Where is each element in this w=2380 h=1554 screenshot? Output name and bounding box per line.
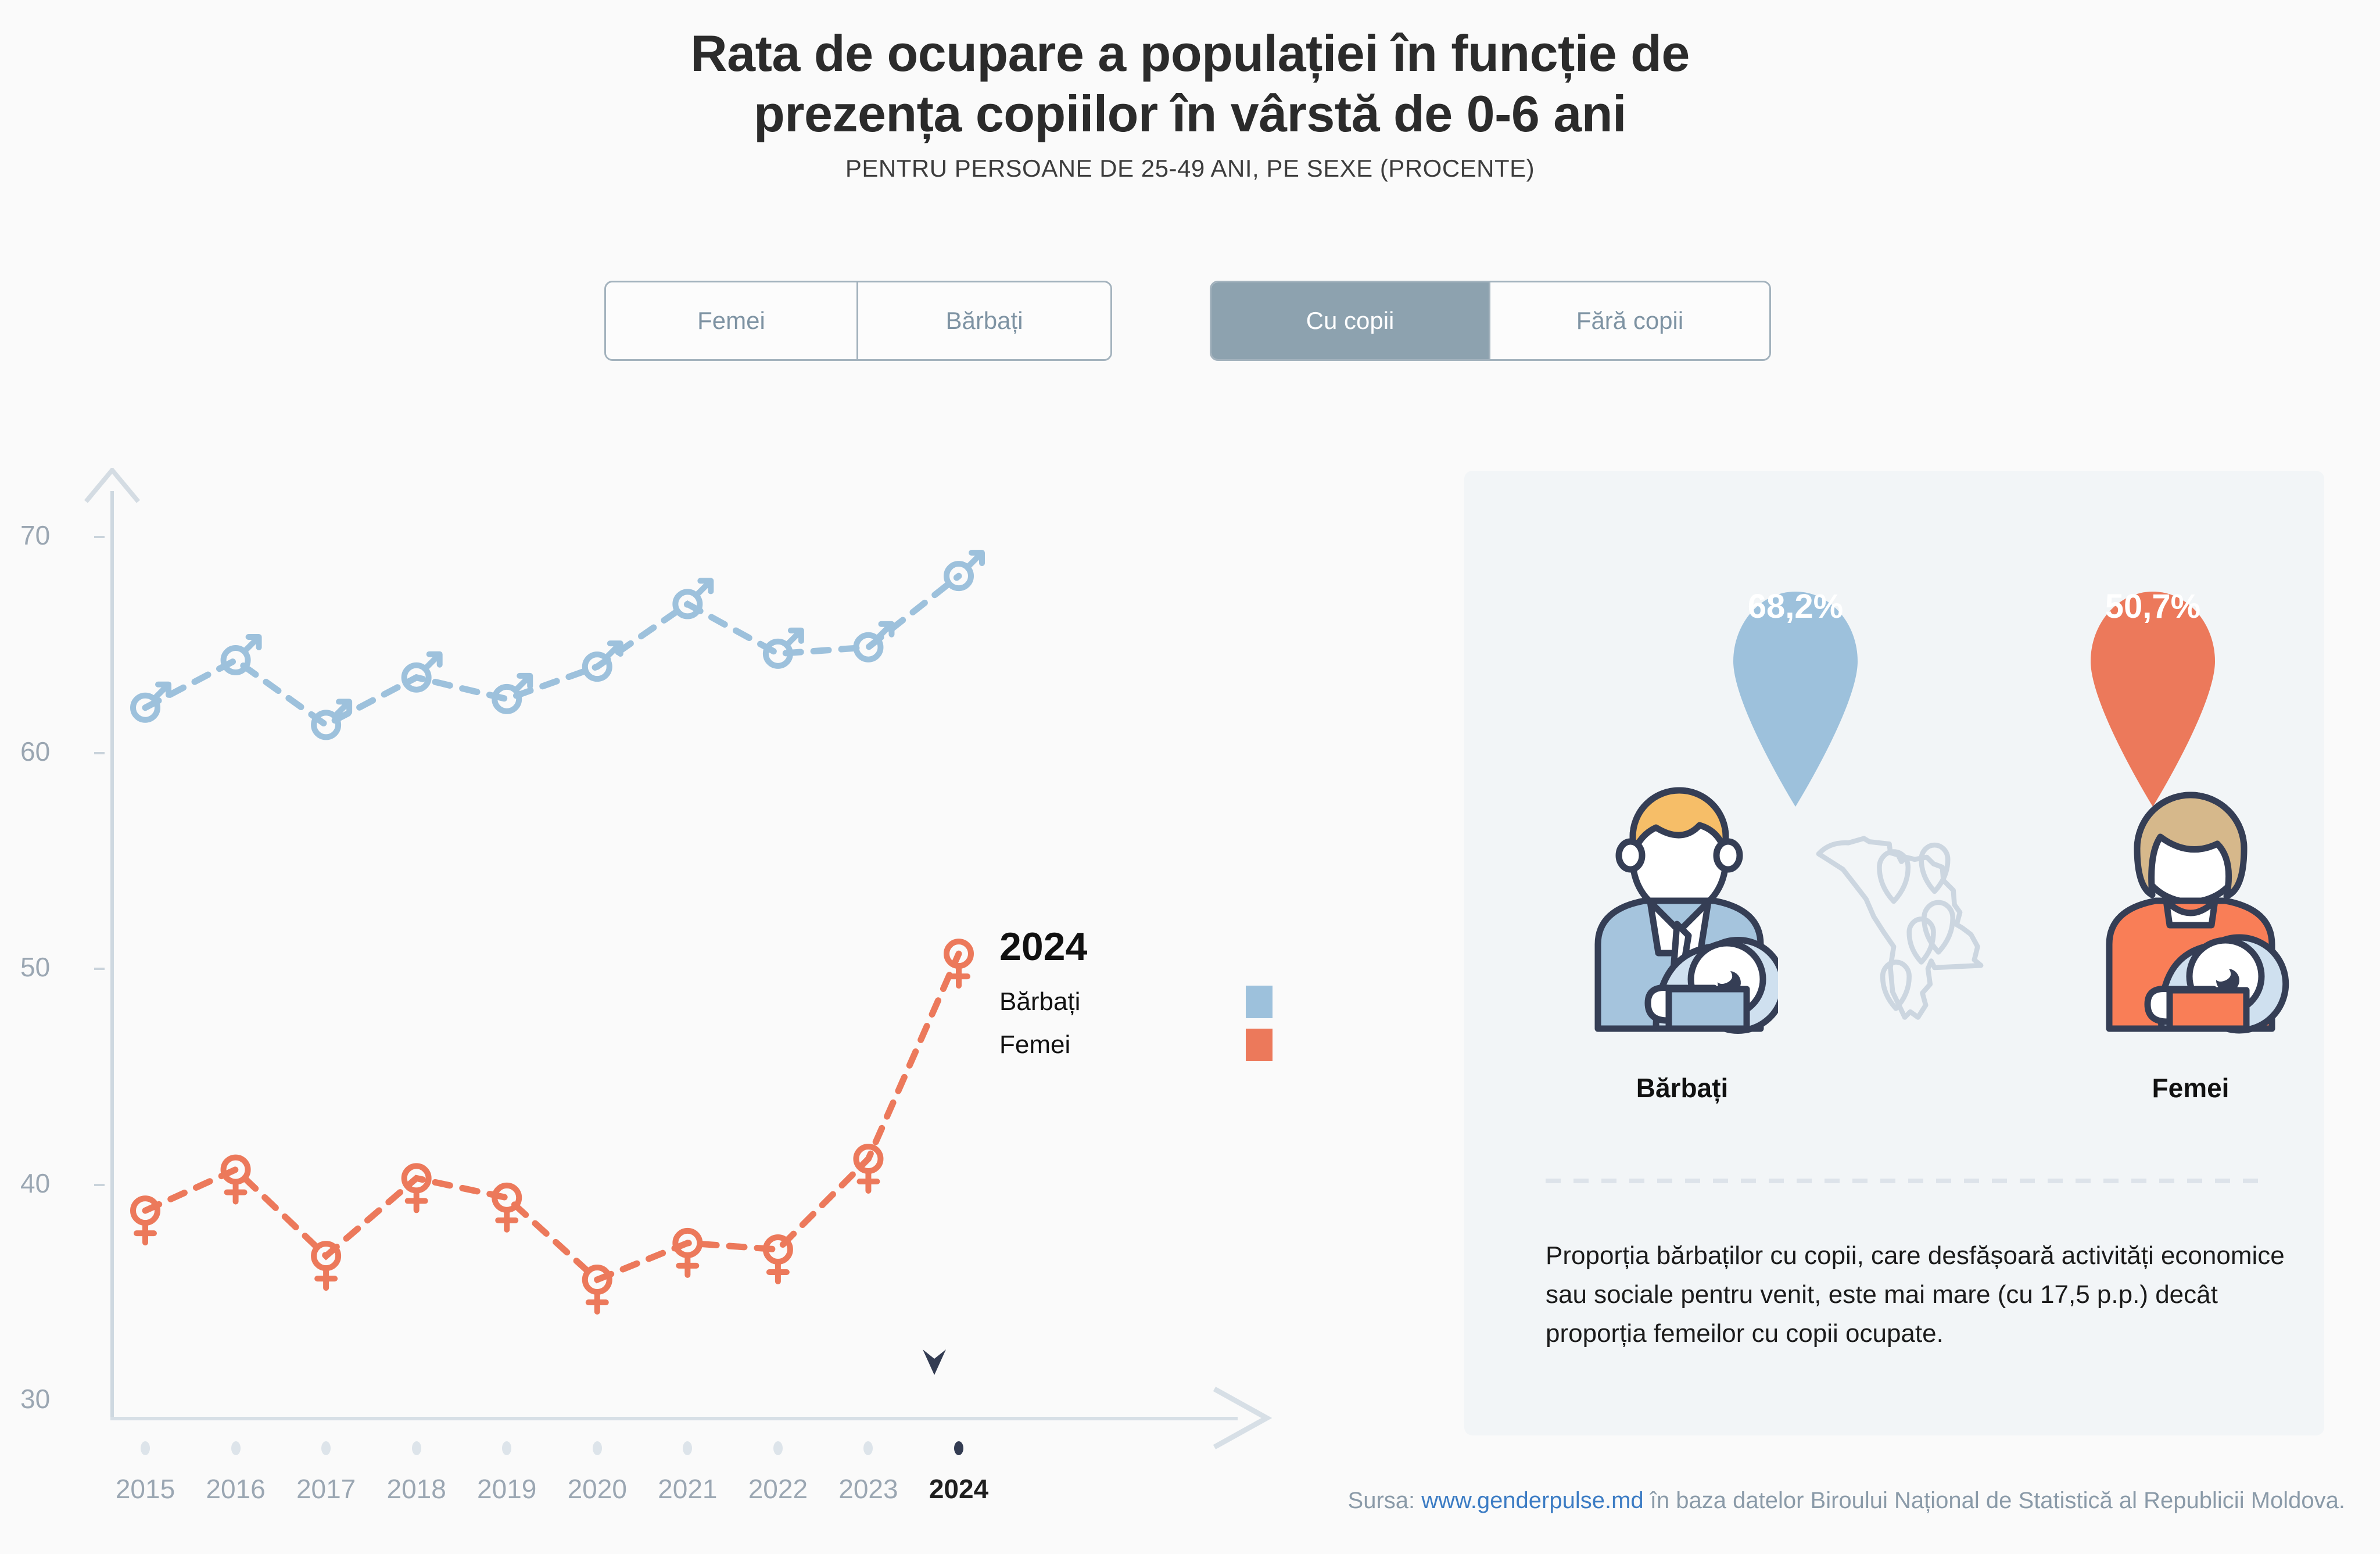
source-link[interactable]: www.genderpulse.md	[1421, 1488, 1643, 1513]
source-prefix: Sursa:	[1348, 1488, 1422, 1513]
venus-marker-icon	[675, 1231, 700, 1275]
chart-legend: 2024 Bărbați Femei	[999, 924, 1325, 1072]
x-axis-dot-2024[interactable]	[954, 1441, 963, 1455]
x-axis-dot-2022[interactable]	[773, 1441, 783, 1455]
page-title: Rata de ocupare a populației în funcție …	[0, 23, 2380, 144]
venus-marker-icon	[314, 1244, 338, 1288]
legend-item-femei[interactable]: Femei	[999, 1029, 1273, 1061]
venus-marker-icon	[133, 1198, 157, 1243]
children-toggle-group[interactable]: Cu copii Fără copii	[1210, 281, 1771, 361]
current-year-pointer-icon	[922, 1348, 947, 1385]
pin-men-value: 68,2%	[1729, 587, 1862, 626]
x-axis-dots	[0, 1441, 1336, 1459]
page-title-line2: prezența copiilor în vârstă de 0-6 ani	[0, 84, 2380, 144]
filter-toggles: Femei Bărbați Cu copii Fără copii	[604, 281, 1771, 361]
man-with-baby-icon	[1580, 779, 1778, 1034]
woman-label: Femei	[2069, 1072, 2313, 1104]
legend-swatch-barbati	[1246, 986, 1273, 1018]
pin-women-value: 50,7%	[2086, 587, 2220, 626]
venus-marker-icon	[494, 1186, 519, 1230]
man-label: Bărbați	[1560, 1072, 1804, 1104]
legend-label-femei: Femei	[999, 1030, 1070, 1059]
panel-divider	[1546, 1179, 2260, 1183]
toggle-cu-copii[interactable]: Cu copii	[1211, 282, 1490, 359]
toggle-femei[interactable]: Femei	[606, 282, 858, 359]
venus-marker-icon	[404, 1166, 429, 1210]
panel-description: Proporția bărbaților cu copii, care desf…	[1546, 1237, 2324, 1354]
venus-marker-icon	[224, 1158, 248, 1202]
page-header: Rata de ocupare a populației în funcție …	[0, 23, 2380, 182]
moldova-map-icon	[1795, 802, 2016, 1023]
page-subtitle: PENTRU PERSOANE DE 25-49 ANI, PE SEXE (P…	[0, 155, 2380, 182]
toggle-barbati[interactable]: Bărbați	[858, 282, 1110, 359]
venus-marker-icon	[947, 941, 971, 986]
x-axis-dot-2021[interactable]	[683, 1441, 692, 1455]
x-axis-dot-2018[interactable]	[412, 1441, 421, 1455]
source-suffix: în baza datelor Biroului Național de Sta…	[1644, 1488, 2345, 1513]
x-axis-dot-2016[interactable]	[231, 1441, 241, 1455]
series-line-bărbați	[145, 576, 959, 725]
line-chart: 3040506070 20152016201720182019202020212…	[0, 459, 1336, 1447]
legend-item-barbati[interactable]: Bărbați	[999, 986, 1273, 1018]
legend-year: 2024	[999, 924, 1325, 969]
woman-with-baby-icon	[2092, 779, 2289, 1034]
source-footer: Sursa: www.genderpulse.md în baza datelo…	[0, 1488, 2380, 1514]
venus-marker-icon	[585, 1267, 610, 1312]
x-axis-dot-2020[interactable]	[593, 1441, 602, 1455]
x-axis-dot-2019[interactable]	[502, 1441, 511, 1455]
x-axis-dot-2017[interactable]	[321, 1441, 331, 1455]
venus-marker-icon	[766, 1237, 790, 1281]
x-axis-dot-2023[interactable]	[863, 1441, 873, 1455]
legend-label-barbati: Bărbați	[999, 987, 1080, 1016]
mars-marker-icon	[947, 553, 982, 588]
x-axis-dot-2015[interactable]	[141, 1441, 150, 1455]
series-line-femei	[145, 954, 959, 1280]
sex-toggle-group[interactable]: Femei Bărbați	[604, 281, 1112, 361]
legend-swatch-femei	[1246, 1029, 1273, 1061]
page-title-line1: Rata de ocupare a populației în funcție …	[0, 23, 2380, 84]
toggle-fara-copii[interactable]: Fără copii	[1490, 282, 1769, 359]
mars-marker-icon	[675, 581, 711, 616]
